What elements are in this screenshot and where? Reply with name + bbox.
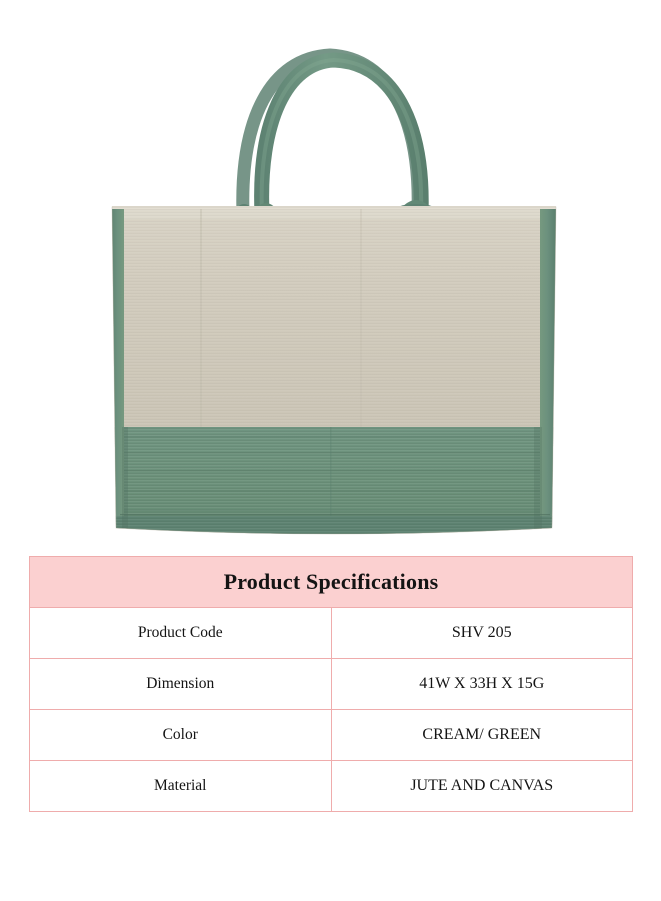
spec-label-product-code: Product Code	[30, 608, 332, 659]
table-row: Color CREAM/ GREEN	[30, 710, 633, 761]
product-specifications-table: Product Specifications Product Code SHV …	[29, 556, 633, 812]
table-row: Product Code SHV 205	[30, 608, 633, 659]
spec-value-material: JUTE AND CANVAS	[331, 761, 633, 812]
table-row: Dimension 41W X 33H X 15G	[30, 659, 633, 710]
spec-label-color: Color	[30, 710, 332, 761]
spec-value-dimension: 41W X 33H X 15G	[331, 659, 633, 710]
jute-canvas-tote-bag-illustration	[0, 0, 661, 552]
table-row: Material JUTE AND CANVAS	[30, 761, 633, 812]
page-title: Product Specifications	[30, 557, 633, 608]
bag-body	[108, 205, 560, 545]
spec-label-material: Material	[30, 761, 332, 812]
table-title-row: Product Specifications	[30, 557, 633, 608]
spec-label-dimension: Dimension	[30, 659, 332, 710]
product-image	[0, 0, 661, 552]
spec-value-color: CREAM/ GREEN	[331, 710, 633, 761]
spec-value-product-code: SHV 205	[331, 608, 633, 659]
